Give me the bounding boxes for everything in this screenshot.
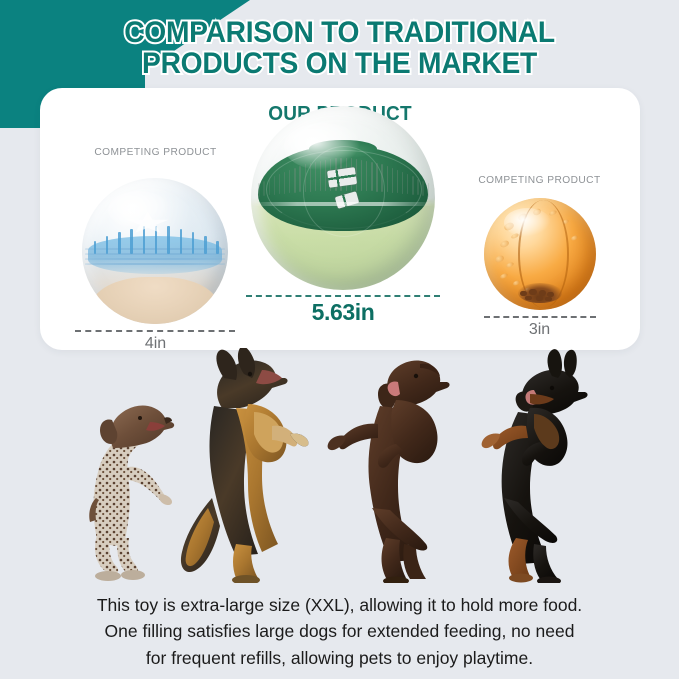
dog-labrador: [328, 361, 450, 583]
infographic-root: COMPARISON TO TRADITIONAL PRODUCTS ON TH…: [0, 0, 679, 679]
page-title: COMPARISON TO TRADITIONAL PRODUCTS ON TH…: [20, 18, 658, 79]
headline-line-1: COMPARISON TO TRADITIONAL: [124, 16, 555, 49]
dog-pointer: [89, 405, 174, 581]
competing-right-measure-line: [484, 316, 596, 318]
competing-right-label: COMPETING PRODUCT: [455, 174, 625, 186]
competing-left-measure-line: [75, 330, 235, 332]
blurb-line-2: One filling satisfies large dogs for ext…: [34, 618, 645, 644]
headline-line-2: PRODUCTS ON THE MARKET: [20, 49, 658, 80]
competing-left-ball-image: [82, 178, 228, 324]
our-product-ball-image: [251, 106, 435, 290]
description-paragraph: This toy is extra-large size (XXL), allo…: [34, 592, 645, 671]
dog-shepherd: [181, 348, 309, 583]
our-product-measure-line: [246, 295, 440, 297]
dog-doberman: [482, 349, 588, 583]
blurb-line-1: This toy is extra-large size (XXL), allo…: [34, 592, 645, 618]
comparison-card: OUR PRODUCT COMPETING PRODUCT 4in: [40, 88, 640, 350]
dogs-photo-strip: [0, 348, 679, 583]
competing-right-ball-image: [484, 198, 596, 310]
dogs-illustration: [0, 348, 679, 583]
competing-left-label: COMPETING PRODUCT: [71, 146, 241, 158]
competing-right-size: 3in: [452, 321, 627, 339]
blurb-line-3: for frequent refills, allowing pets to e…: [34, 645, 645, 671]
product-column-competing-left: COMPETING PRODUCT 4in: [68, 138, 243, 343]
product-column-our-product: 5.63in: [238, 96, 448, 344]
our-product-size: 5.63in: [238, 299, 448, 326]
product-column-competing-right: COMPETING PRODUCT 3in: [452, 166, 627, 344]
